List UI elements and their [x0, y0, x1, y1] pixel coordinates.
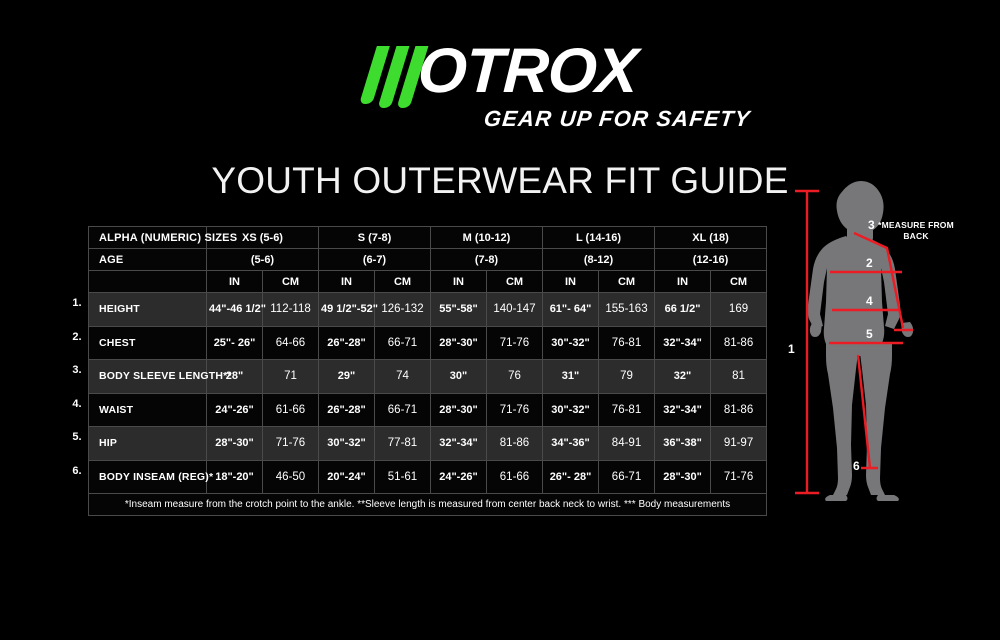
cell-inseam-l-in: 26"- 28": [543, 460, 599, 494]
cell-height-m-cm: 140-147: [487, 293, 543, 327]
cell-waist-m-in: 28"-30": [431, 393, 487, 427]
header-age-l: (8-12): [543, 249, 655, 271]
cell-waist-xl-cm: 81-86: [711, 393, 767, 427]
cell-sleeve-s-cm: 74: [375, 360, 431, 394]
cell-inseam-l-cm: 66-71: [599, 460, 655, 494]
brand-wordmark: OTROX: [416, 40, 638, 103]
cell-waist-l-in: 30"-32": [543, 393, 599, 427]
cell-chest-m-cm: 71-76: [487, 326, 543, 360]
measurement-label-height: HEIGHT: [89, 293, 207, 327]
header-unit-in-xs: IN: [207, 271, 263, 293]
figure-marker-waist: 4: [866, 294, 873, 308]
cell-inseam-m-in: 24"-26": [431, 460, 487, 494]
measure-from-back-note: *MEASURE FROM BACK: [868, 220, 964, 241]
cell-height-xs-cm: 112-118: [263, 293, 319, 327]
row-number-1: 1.: [68, 297, 86, 309]
cell-chest-s-cm: 66-71: [375, 326, 431, 360]
header-unit-in-xl: IN: [655, 271, 711, 293]
measurement-label-body-inseam: BODY INSEAM (REG)*: [89, 460, 207, 494]
cell-height-xs-in: 44"-46 1/2": [207, 293, 263, 327]
cell-hip-xs-cm: 71-76: [263, 427, 319, 461]
cell-hip-l-in: 34"-36": [543, 427, 599, 461]
header-age-xs: (5-6): [207, 249, 319, 271]
header-unit-cm-m: CM: [487, 271, 543, 293]
cell-height-xl-cm: 169: [711, 293, 767, 327]
table-header-unit-row: IN CM IN CM IN CM IN CM IN CM: [89, 271, 767, 293]
cell-chest-s-in: 26"-28": [319, 326, 375, 360]
brand-logo: OTROX GEAR UP FOR SAFETY: [0, 44, 1000, 144]
measurement-label-body-sleeve-length: BODY SLEEVE LENGTH**: [89, 360, 207, 394]
cell-chest-xs-in: 25"- 26": [207, 326, 263, 360]
header-age-xl: (12-16): [655, 249, 767, 271]
cell-sleeve-m-cm: 76: [487, 360, 543, 394]
cell-chest-l-cm: 76-81: [599, 326, 655, 360]
header-size-l: L (14-16): [543, 227, 655, 249]
cell-hip-s-cm: 77-81: [375, 427, 431, 461]
cell-hip-xl-in: 36"-38": [655, 427, 711, 461]
figure-marker-height: 1: [788, 342, 795, 356]
cell-chest-xl-in: 32"-34": [655, 326, 711, 360]
cell-hip-xs-in: 28"-30": [207, 427, 263, 461]
cell-inseam-s-cm: 51-61: [375, 460, 431, 494]
header-unit-in-l: IN: [543, 271, 599, 293]
cell-inseam-m-cm: 61-66: [487, 460, 543, 494]
table-row: HEIGHT 44"-46 1/2" 112-118 49 1/2"-52" 1…: [89, 293, 767, 327]
figure-marker-inseam: 6: [853, 459, 860, 473]
cell-sleeve-xs-cm: 71: [263, 360, 319, 394]
cell-chest-xl-cm: 81-86: [711, 326, 767, 360]
cell-waist-m-cm: 71-76: [487, 393, 543, 427]
table-row: BODY INSEAM (REG)* 18"-20" 46-50 20"-24"…: [89, 460, 767, 494]
cell-chest-xs-cm: 64-66: [263, 326, 319, 360]
table-footnote-row: *Inseam measure from the crotch point to…: [89, 494, 767, 516]
header-unit-spacer: [89, 271, 207, 293]
cell-waist-xs-in: 24"-26": [207, 393, 263, 427]
table-footnote: *Inseam measure from the crotch point to…: [89, 494, 767, 516]
row-number-4: 4.: [68, 398, 86, 410]
table-row: CHEST 25"- 26" 64-66 26"-28" 66-71 28"-3…: [89, 326, 767, 360]
cell-inseam-xs-in: 18"-20": [207, 460, 263, 494]
cell-inseam-s-in: 20"-24": [319, 460, 375, 494]
header-unit-in-m: IN: [431, 271, 487, 293]
cell-hip-l-cm: 84-91: [599, 427, 655, 461]
cell-chest-m-in: 28"-30": [431, 326, 487, 360]
measurement-label-chest: CHEST: [89, 326, 207, 360]
cell-height-m-in: 55"-58": [431, 293, 487, 327]
measurement-label-waist: WAIST: [89, 393, 207, 427]
header-alpha-label: ALPHA (NUMERIC) SIZES: [89, 227, 207, 249]
figure-marker-hip: 5: [866, 327, 873, 341]
header-size-xl: XL (18): [655, 227, 767, 249]
row-number-3: 3.: [68, 364, 86, 376]
header-unit-cm-xl: CM: [711, 271, 767, 293]
cell-sleeve-xl-cm: 81: [711, 360, 767, 394]
cell-hip-xl-cm: 91-97: [711, 427, 767, 461]
cell-height-xl-in: 66 1/2": [655, 293, 711, 327]
header-age-label: AGE: [89, 249, 207, 271]
figure-marker-chest: 2: [866, 256, 873, 270]
table-header-age-row: AGE (5-6) (6-7) (7-8) (8-12) (12-16): [89, 249, 767, 271]
cell-height-l-cm: 155-163: [599, 293, 655, 327]
cell-waist-xl-in: 32"-34": [655, 393, 711, 427]
header-age-m: (7-8): [431, 249, 543, 271]
figure-marker-sleeve: 3: [868, 218, 875, 232]
cell-chest-l-in: 30"-32": [543, 326, 599, 360]
brand-tagline: GEAR UP FOR SAFETY: [483, 106, 752, 132]
cell-hip-m-in: 32"-34": [431, 427, 487, 461]
table-row: HIP 28"-30" 71-76 30"-32" 77-81 32"-34" …: [89, 427, 767, 461]
cell-sleeve-m-in: 30": [431, 360, 487, 394]
row-number-6: 6.: [68, 465, 86, 477]
header-unit-in-s: IN: [319, 271, 375, 293]
cell-height-s-in: 49 1/2"-52": [319, 293, 375, 327]
cell-hip-m-cm: 81-86: [487, 427, 543, 461]
header-unit-cm-s: CM: [375, 271, 431, 293]
cell-sleeve-s-in: 29": [319, 360, 375, 394]
cell-waist-l-cm: 76-81: [599, 393, 655, 427]
table-row: WAIST 24"-26" 61-66 26"-28" 66-71 28"-30…: [89, 393, 767, 427]
row-number-5: 5.: [68, 431, 86, 443]
row-number-2: 2.: [68, 331, 86, 343]
size-chart-table: ALPHA (NUMERIC) SIZES XS (5-6) S (7-8) M…: [88, 226, 766, 516]
height-measure-line: [795, 191, 819, 493]
header-age-s: (6-7): [319, 249, 431, 271]
cell-height-l-in: 61"- 64": [543, 293, 599, 327]
table-row: BODY SLEEVE LENGTH** 28" 71 29" 74 30" 7…: [89, 360, 767, 394]
cell-sleeve-l-in: 31": [543, 360, 599, 394]
header-unit-cm-xs: CM: [263, 271, 319, 293]
measurement-figure-diagram: *MEASURE FROM BACK 1 2 3 4 5 6: [782, 180, 1000, 505]
cell-height-s-cm: 126-132: [375, 293, 431, 327]
header-unit-cm-l: CM: [599, 271, 655, 293]
header-size-m: M (10-12): [431, 227, 543, 249]
cell-waist-s-in: 26"-28": [319, 393, 375, 427]
cell-sleeve-xl-in: 32": [655, 360, 711, 394]
header-size-s: S (7-8): [319, 227, 431, 249]
cell-waist-s-cm: 66-71: [375, 393, 431, 427]
measurement-label-hip: HIP: [89, 427, 207, 461]
table-header-alpha-row: ALPHA (NUMERIC) SIZES XS (5-6) S (7-8) M…: [89, 227, 767, 249]
cell-inseam-xs-cm: 46-50: [263, 460, 319, 494]
cell-sleeve-l-cm: 79: [599, 360, 655, 394]
cell-inseam-xl-in: 28"-30": [655, 460, 711, 494]
cell-waist-xs-cm: 61-66: [263, 393, 319, 427]
cell-inseam-xl-cm: 71-76: [711, 460, 767, 494]
cell-hip-s-in: 30"-32": [319, 427, 375, 461]
